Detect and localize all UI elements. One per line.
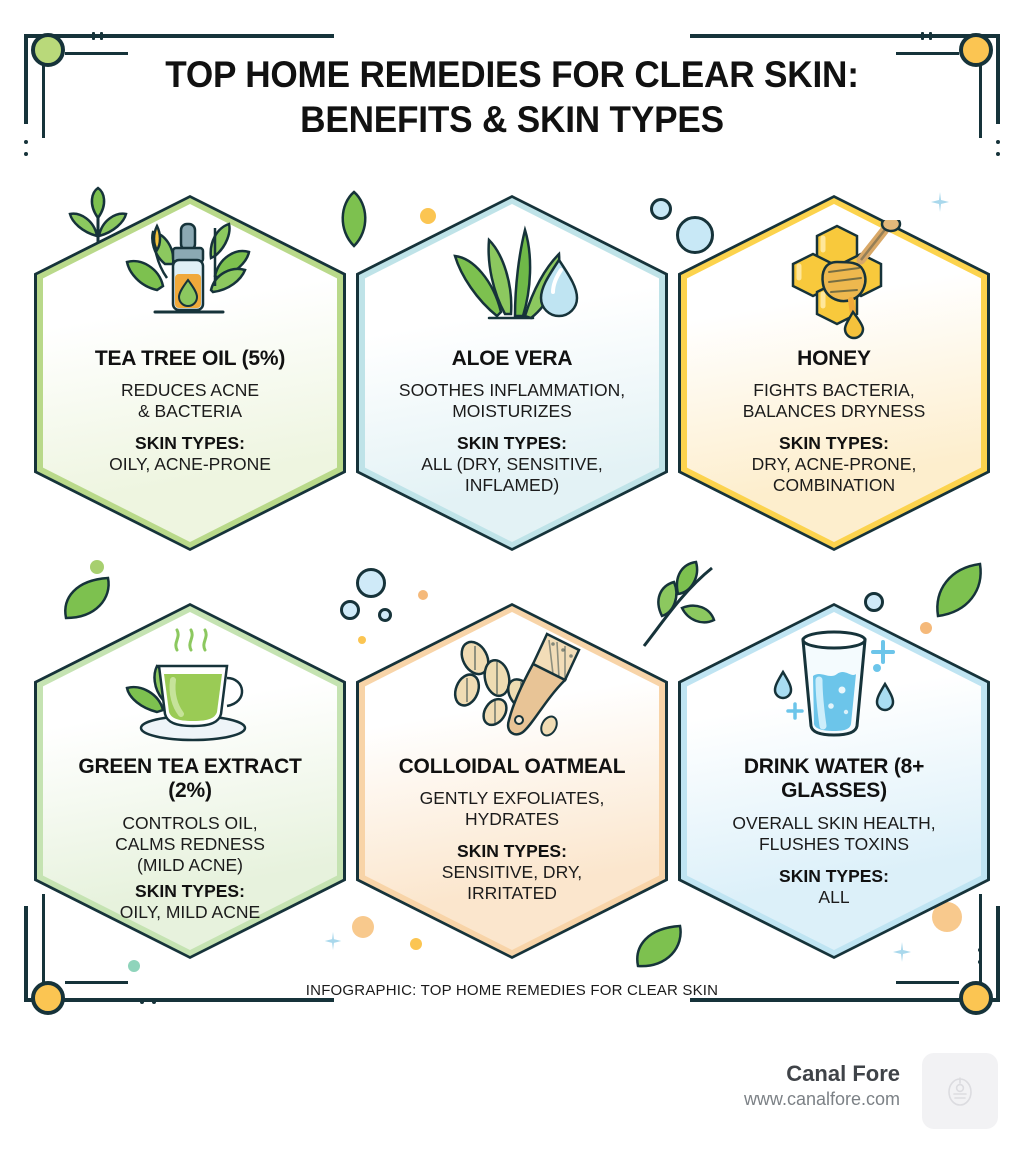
brand-url[interactable]: www.canalfore.com <box>744 1088 900 1111</box>
frame-tick-d <box>24 152 28 156</box>
tea-cup-leaves-icon <box>115 625 265 751</box>
card-skin-types-value: ALL <box>818 887 849 908</box>
card-skin-types-value: DRY, ACNE-PRONE, COMBINATION <box>752 454 917 496</box>
frame-tick-b <box>100 32 103 40</box>
remedy-card-honey[interactable]: HONEY FIGHTS BACTERIA, BALANCES DRYNESS … <box>678 195 990 551</box>
frame-tick-e <box>929 32 932 40</box>
card-title: GREEN TEA EXTRACT (2%) <box>65 755 315 804</box>
water-glass-droplets-icon <box>759 625 909 751</box>
brand-name: Canal Fore <box>744 1060 900 1088</box>
card-skin-types-label: SKIN TYPES: <box>135 433 245 454</box>
card-title: COLLOIDAL OATMEAL <box>399 755 626 779</box>
card-skin-types-line: SENSITIVE, DRY, <box>442 862 582 883</box>
card-skin-types-label: SKIN TYPES: <box>457 433 567 454</box>
card-skin-types-line: ALL <box>818 887 849 908</box>
card-title: HONEY <box>797 347 871 371</box>
infographic-canvas: TOP HOME REMEDIES FOR CLEAR SKIN: BENEFI… <box>0 0 1024 1154</box>
card-title-text: COLLOIDAL OATMEAL <box>399 755 626 778</box>
page-title: TOP HOME REMEDIES FOR CLEAR SKIN: BENEFI… <box>0 52 1024 142</box>
card-benefit-line: (MILD ACNE) <box>115 855 265 876</box>
card-title: ALOE VERA <box>452 347 573 371</box>
card-skin-types-line: OILY, MILD ACNE <box>120 902 260 923</box>
card-benefit-line: OVERALL SKIN HEALTH, <box>732 813 935 834</box>
remedy-card-colloidal-oatmeal[interactable]: COLLOIDAL OATMEAL GENTLY EXFOLIATES, HYD… <box>356 603 668 959</box>
card-benefit-line: & BACTERIA <box>121 401 259 422</box>
remedy-card-tea-tree-oil[interactable]: TEA TREE OIL (5%) REDUCES ACNE & BACTERI… <box>34 195 346 551</box>
card-benefit: OVERALL SKIN HEALTH, FLUSHES TOXINS <box>732 813 935 855</box>
card-benefit-line: GENTLY EXFOLIATES, <box>420 788 605 809</box>
card-title: DRINK WATER (8+ GLASSES) <box>709 755 959 804</box>
card-benefit-line: CONTROLS OIL, <box>115 813 265 834</box>
remedy-card-aloe-vera[interactable]: ALOE VERA SOOTHES INFLAMMATION, MOISTURI… <box>356 195 668 551</box>
card-benefit-line: FIGHTS BACTERIA, <box>743 380 926 401</box>
card-benefit: GENTLY EXFOLIATES, HYDRATES <box>420 788 605 830</box>
card-benefit-line: REDUCES ACNE <box>121 380 259 401</box>
frame-tick-i <box>140 1000 144 1004</box>
infographic-caption: INFOGRAPHIC: TOP HOME REMEDIES FOR CLEAR… <box>0 982 1024 999</box>
frame-line-top-right <box>690 34 1000 38</box>
page-title-line-2: BENEFITS & SKIN TYPES <box>26 97 999 142</box>
canalfore-logo-icon <box>922 1053 998 1129</box>
card-skin-types-label: SKIN TYPES: <box>779 433 889 454</box>
card-skin-types-value: ALL (DRY, SENSITIVE, INFLAMED) <box>421 454 603 496</box>
card-benefit-line: FLUSHES TOXINS <box>732 834 935 855</box>
frame-tick-a <box>92 32 95 40</box>
card-benefit-line: MOISTURIZES <box>399 401 625 422</box>
card-skin-types-line: OILY, ACNE-PRONE <box>109 454 271 475</box>
card-skin-types-line: ALL (DRY, SENSITIVE, <box>421 454 603 475</box>
card-benefit: FIGHTS BACTERIA, BALANCES DRYNESS <box>743 380 926 422</box>
card-benefit: REDUCES ACNE & BACTERIA <box>121 380 259 422</box>
remedy-card-drink-water[interactable]: DRINK WATER (8+ GLASSES) OVERALL SKIN HE… <box>678 603 990 959</box>
card-title-text: GREEN TEA EXTRACT (2%) <box>78 755 301 802</box>
card-skin-types-line: COMBINATION <box>752 475 917 496</box>
card-skin-types-label: SKIN TYPES: <box>457 841 567 862</box>
remedy-card-green-tea-extract[interactable]: GREEN TEA EXTRACT (2%) CONTROLS OIL, CAL… <box>34 603 346 959</box>
card-skin-types-label: SKIN TYPES: <box>135 881 245 902</box>
card-benefit-line: BALANCES DRYNESS <box>743 401 926 422</box>
leaf-icon-4 <box>630 922 686 972</box>
card-benefit-line: HYDRATES <box>420 809 605 830</box>
card-skin-types-line: IRRITATED <box>442 883 582 904</box>
card-title-text: DRINK WATER (8+ GLASSES) <box>744 755 924 802</box>
card-benefit: CONTROLS OIL, CALMS REDNESS (MILD ACNE) <box>115 813 265 876</box>
frame-tick-h <box>996 152 1000 156</box>
brand-block: Canal Fore www.canalfore.com <box>744 1060 900 1111</box>
card-skin-types-label: SKIN TYPES: <box>779 866 889 887</box>
card-skin-types-value: SENSITIVE, DRY, IRRITATED <box>442 862 582 904</box>
oat-grains-brush-icon <box>437 625 587 751</box>
aloe-plant-droplet-icon <box>437 217 587 343</box>
frame-line-top-left <box>24 34 334 38</box>
dropper-bottle-leaves-icon <box>115 217 265 343</box>
card-skin-types-value: OILY, MILD ACNE <box>120 902 260 923</box>
card-skin-types-line: DRY, ACNE-PRONE, <box>752 454 917 475</box>
card-benefit: SOOTHES INFLAMMATION, MOISTURIZES <box>399 380 625 422</box>
card-benefit-line: SOOTHES INFLAMMATION, <box>399 380 625 401</box>
card-title: TEA TREE OIL (5%) <box>95 347 285 371</box>
remedy-card-grid: TEA TREE OIL (5%) REDUCES ACNE & BACTERI… <box>34 195 990 965</box>
card-benefit-line: CALMS REDNESS <box>115 834 265 855</box>
honeycomb-dipper-icon <box>759 217 909 343</box>
page-title-line-1: TOP HOME REMEDIES FOR CLEAR SKIN: <box>26 52 999 97</box>
frame-tick-j <box>152 1000 156 1004</box>
frame-tick-f <box>921 32 924 40</box>
card-skin-types-value: OILY, ACNE-PRONE <box>109 454 271 475</box>
card-skin-types-line: INFLAMED) <box>421 475 603 496</box>
